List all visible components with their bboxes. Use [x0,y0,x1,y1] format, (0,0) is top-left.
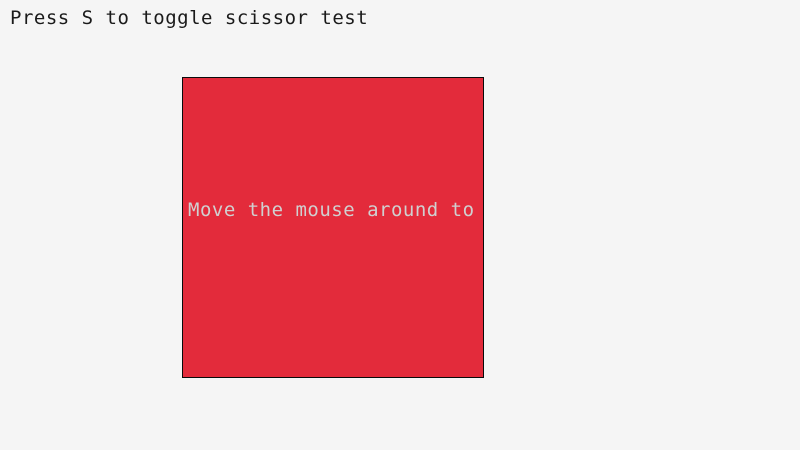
scissor-clipped-message: Move the mouse around to r [188,199,484,221]
scissor-toggle-instruction: Press S to toggle scissor test [10,7,368,29]
app-canvas: Press S to toggle scissor test Move the … [0,0,800,450]
scissor-rectangle[interactable]: Move the mouse around to r [182,77,484,378]
